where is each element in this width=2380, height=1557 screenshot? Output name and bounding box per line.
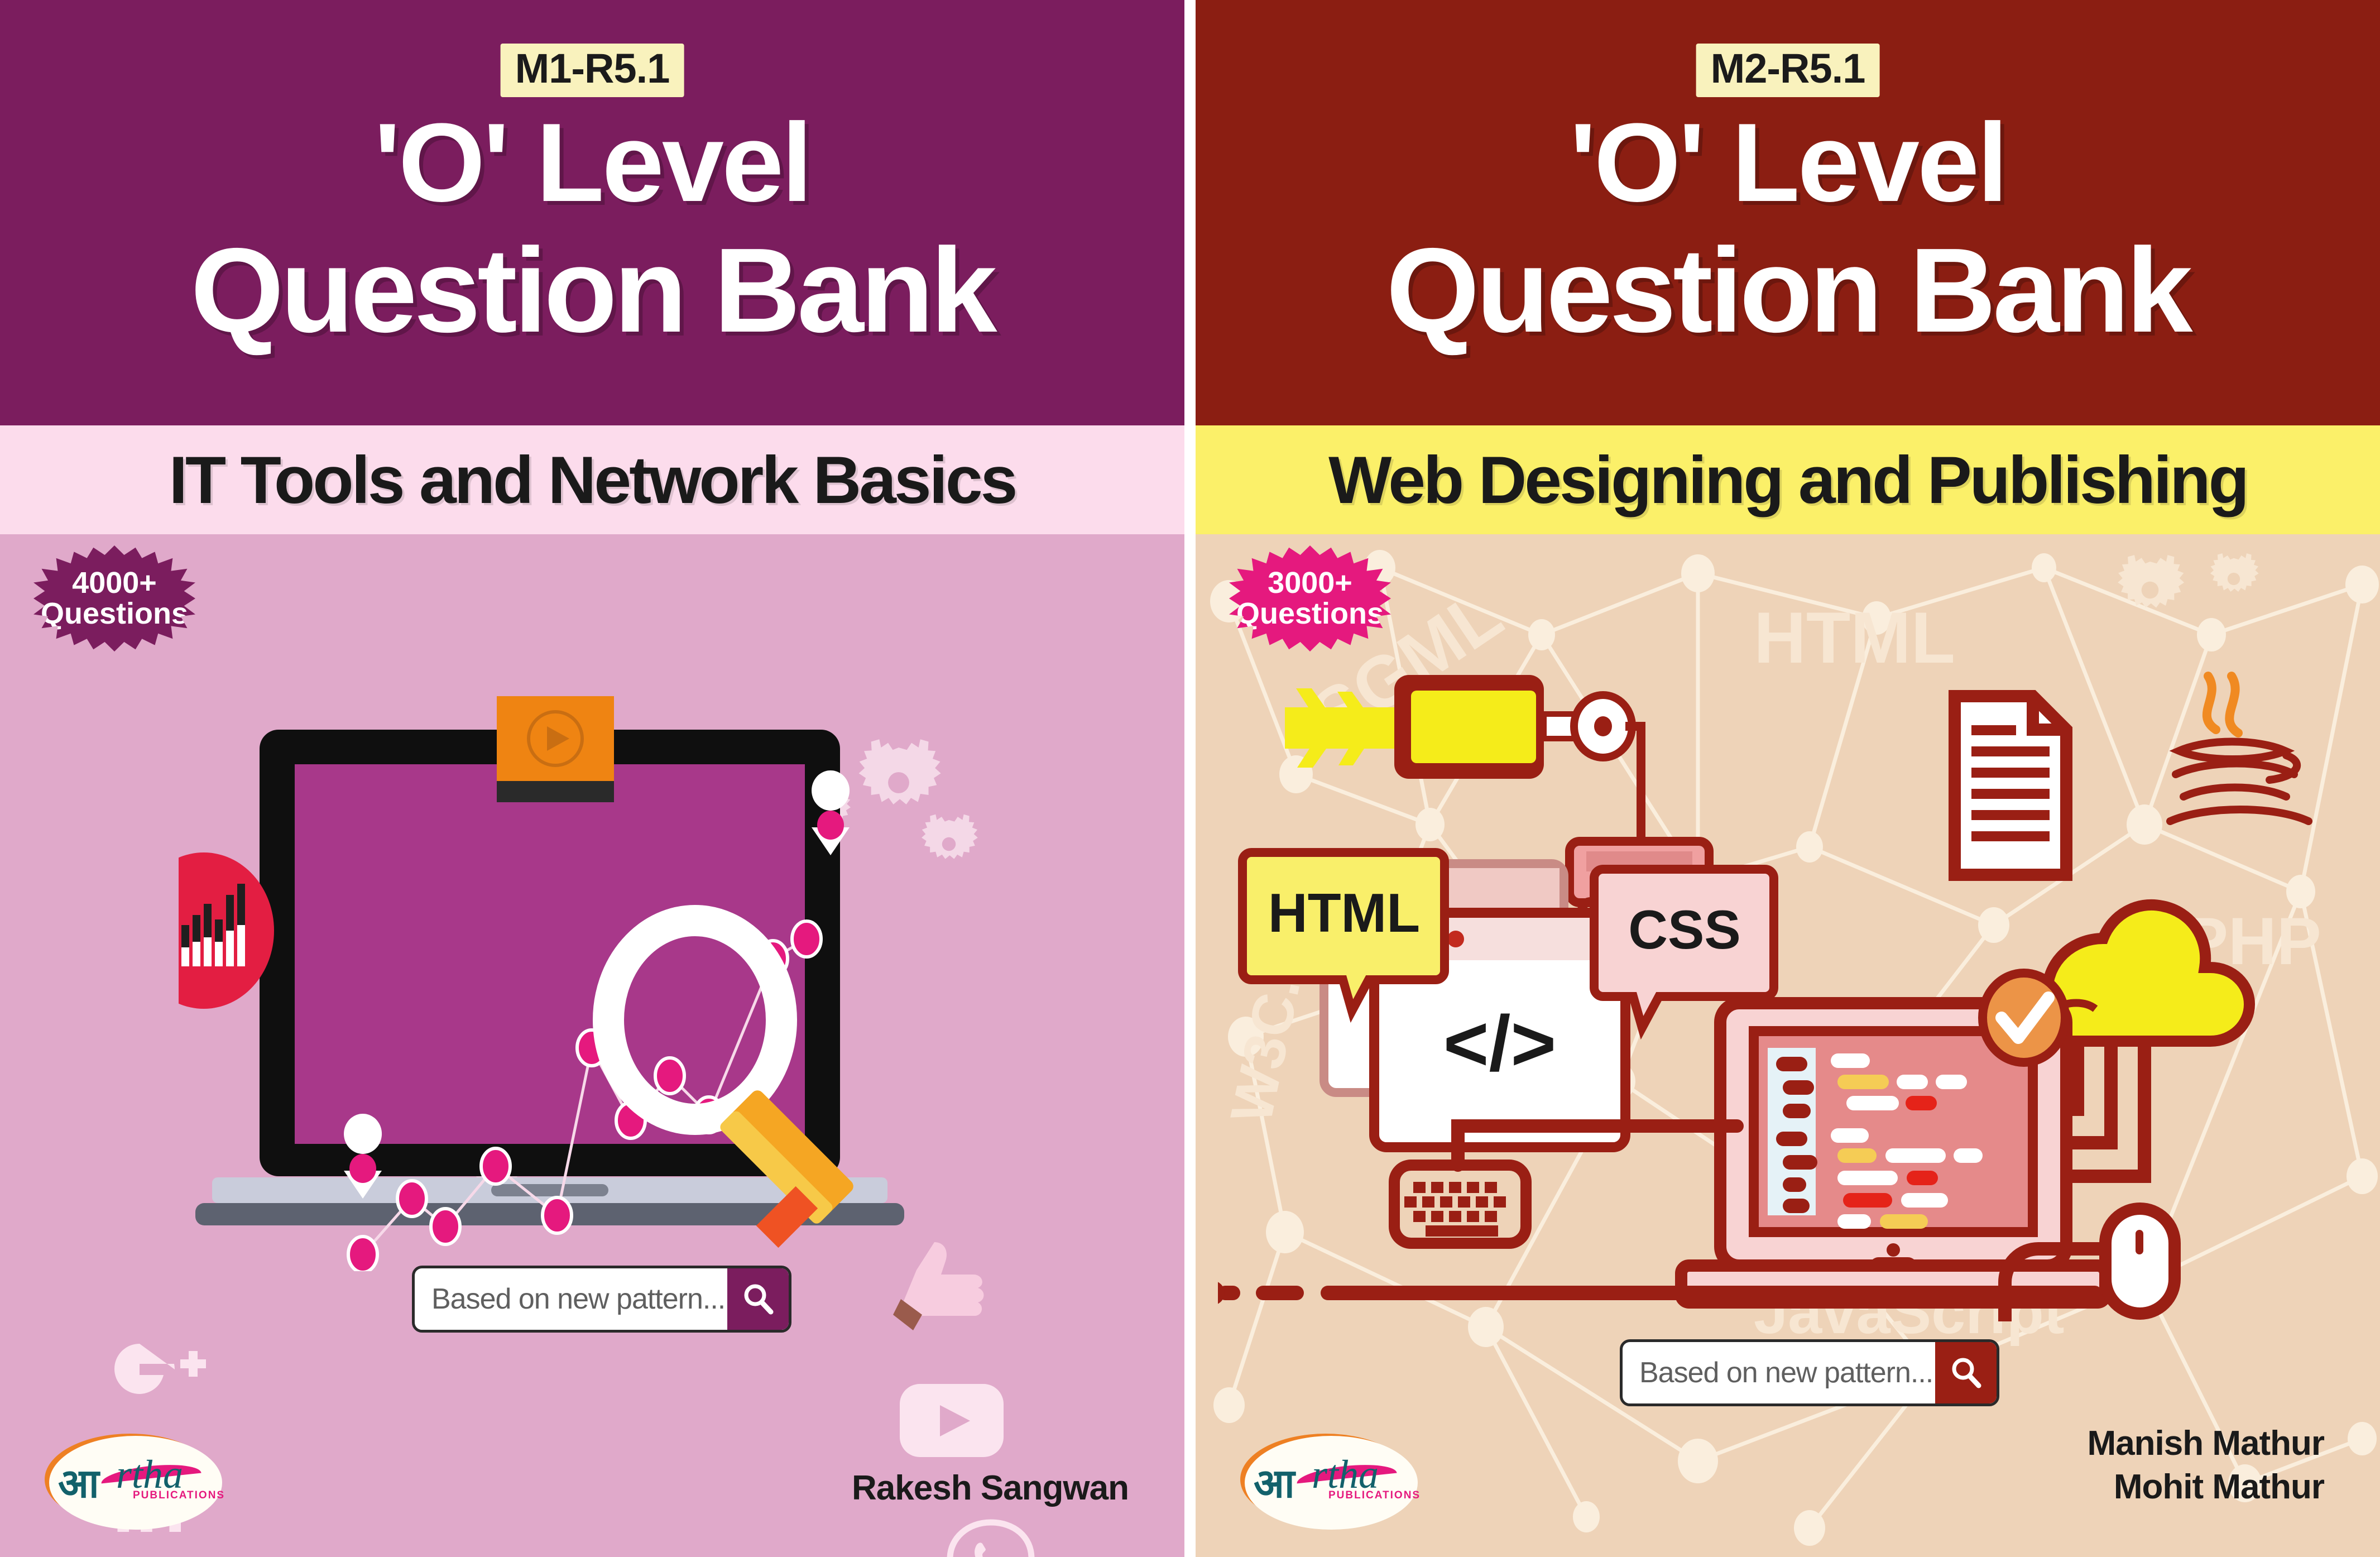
search-icon — [741, 1282, 775, 1316]
badge-count: 3000+ — [1268, 568, 1352, 598]
page-title-line2: Question Bank — [0, 229, 1184, 351]
paint-roller-icon — [1285, 675, 1641, 841]
tag-html-label: HTML — [1268, 882, 1420, 943]
search-button[interactable] — [727, 1268, 789, 1330]
search-input[interactable]: Based on new pattern... — [415, 1268, 727, 1330]
search-icon — [1949, 1355, 1983, 1390]
page-title-line2: Question Bank — [1196, 229, 2380, 351]
cover-m1-artwork: in — [0, 534, 1184, 1557]
author-name: Mohit Mathur — [2088, 1465, 2324, 1509]
module-code-chip: M2-R5.1 — [1696, 44, 1880, 97]
publisher-logo: आ rtha PUBLICATIONS — [1245, 1436, 1418, 1530]
questions-count-badge: 4000+ Questions — [33, 545, 195, 651]
page-title-line1: 'O' Level — [0, 106, 1184, 220]
web-development-illustration: </> HTML CSS — [1218, 607, 2329, 1321]
gear-icon — [922, 815, 978, 859]
check-badge-icon — [1983, 973, 2065, 1062]
logo-devanagari: आ — [1254, 1455, 1295, 1510]
badge-label: Questions — [41, 598, 188, 629]
subtitle-text: IT Tools and Network Basics — [169, 442, 1016, 519]
author-name: Manish Mathur — [2088, 1422, 2324, 1465]
code-glyph: </> — [1443, 999, 1556, 1087]
cover-m2: M2-R5.1 'O' Level Question Bank Web Desi… — [1196, 0, 2380, 1557]
search-button[interactable] — [1935, 1342, 1997, 1403]
page-title-line1: 'O' Level — [1196, 106, 2380, 220]
author-name: Rakesh Sangwan — [852, 1467, 1129, 1510]
logo-tagline: PUBLICATIONS — [133, 1489, 225, 1502]
tag-css-label: CSS — [1628, 899, 1741, 960]
subtitle-text: Web Designing and Publishing — [1328, 442, 2247, 519]
gear-icon — [2210, 553, 2259, 592]
book-cover-pair: M1-R5.1 'O' Level Question Bank IT Tools… — [0, 0, 2380, 1557]
whatsapp-icon — [943, 1517, 1038, 1557]
author-list: Manish Mathur Mohit Mathur — [2088, 1422, 2324, 1508]
cover-m2-header: M2-R5.1 'O' Level Question Bank — [1196, 0, 2380, 425]
document-icon — [1955, 696, 2066, 875]
video-play-icon — [497, 696, 614, 802]
cover-m2-subtitle-band: Web Designing and Publishing — [1196, 425, 2380, 534]
logo-tagline: PUBLICATIONS — [1328, 1489, 1421, 1502]
cover-m1-subtitle-band: IT Tools and Network Basics — [0, 425, 1184, 534]
cover-m2-artwork: SGML HTML W3C.CSS PHP JavaScript — [1196, 534, 2380, 1557]
search-bar[interactable]: Based on new pattern... — [412, 1266, 791, 1333]
logo-devanagari: आ — [58, 1455, 99, 1510]
search-input[interactable]: Based on new pattern... — [1623, 1342, 1935, 1403]
questions-count-badge: 3000+ Questions — [1229, 545, 1391, 651]
gear-icon — [2118, 555, 2184, 607]
badge-label: Questions — [1236, 598, 1384, 629]
cover-m1: M1-R5.1 'O' Level Question Bank IT Tools… — [0, 0, 1184, 1557]
search-bar[interactable]: Based on new pattern... — [1620, 1339, 1999, 1406]
java-coffee-icon — [2170, 676, 2309, 821]
publisher-logo: आ rtha PUBLICATIONS — [49, 1436, 222, 1530]
module-code-chip: M1-R5.1 — [501, 44, 684, 97]
badge-count: 4000+ — [72, 568, 157, 598]
laptop-analytics-illustration — [179, 696, 921, 1271]
youtube-icon — [899, 1383, 1005, 1458]
cover-divider — [1184, 0, 1196, 1557]
cover-m1-header: M1-R5.1 'O' Level Question Bank — [0, 0, 1184, 425]
google-plus-icon — [106, 1338, 212, 1405]
